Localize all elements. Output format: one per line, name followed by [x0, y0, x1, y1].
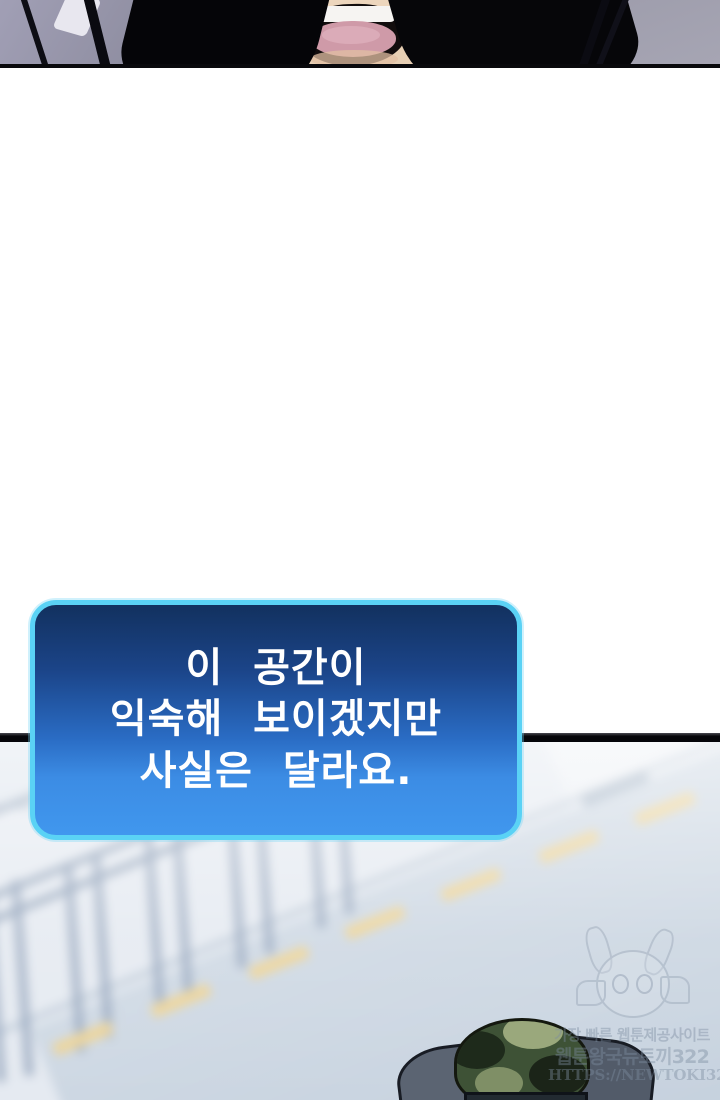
speech-bubble-line-3: 사실은 달라요. — [140, 746, 413, 797]
panel-top-closeup — [0, 0, 720, 68]
camo-patch — [529, 1055, 587, 1095]
cap-brim — [464, 1092, 588, 1100]
camo-patch — [454, 1031, 505, 1069]
webtoon-page: 이 공간이 익숙해 보이겠지만 사실은 달라요. 가장 빠른 웹툰제공사이트 웹… — [0, 0, 720, 1100]
speech-bubble-line-1: 이 공간이 — [185, 643, 366, 694]
camo-patch — [503, 1018, 563, 1049]
camouflage-cap — [454, 1018, 590, 1100]
hair-mass-left — [112, 0, 337, 68]
speech-bubble: 이 공간이 익숙해 보이겠지만 사실은 달라요. — [30, 600, 522, 840]
speech-bubble-line-2: 익숙해 보이겠지만 — [110, 694, 442, 745]
person-in-camo-cap — [398, 1014, 628, 1100]
tongue-highlight — [322, 26, 380, 44]
